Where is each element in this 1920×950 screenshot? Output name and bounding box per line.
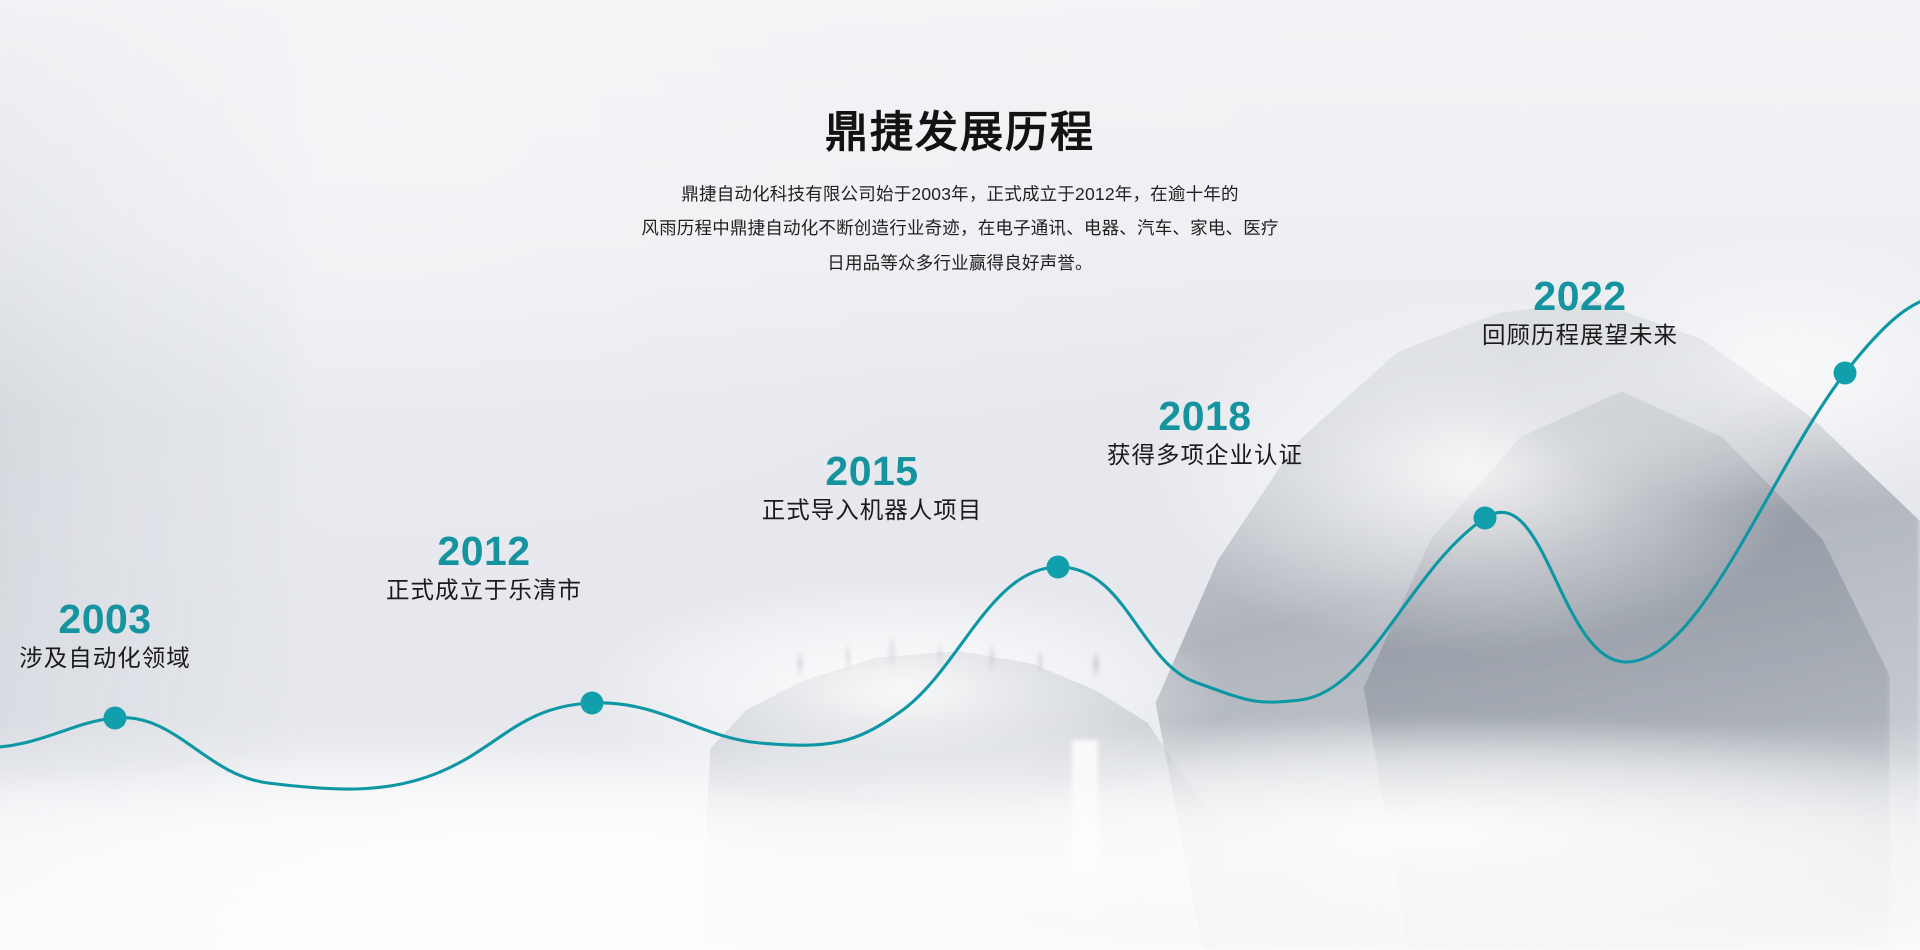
- milestone-2003[interactable]: 2003 涉及自动化领域: [19, 598, 191, 672]
- milestone-label-2018: 获得多项企业认证: [1107, 441, 1303, 469]
- timeline-node-2018[interactable]: [1474, 507, 1497, 530]
- page-description: 鼎捷自动化科技有限公司始于2003年，正式成立于2012年，在逾十年的 风雨历程…: [550, 157, 1370, 279]
- page-description-line-1: 鼎捷自动化科技有限公司始于2003年，正式成立于2012年，在逾十年的: [550, 177, 1370, 211]
- milestone-year-2003: 2003: [19, 598, 191, 641]
- milestone-year-2012: 2012: [386, 530, 582, 573]
- milestone-label-2015: 正式导入机器人项目: [762, 496, 983, 524]
- timeline-node-2003[interactable]: [104, 707, 127, 730]
- milestone-year-2015: 2015: [762, 450, 983, 493]
- page-description-line-2: 风雨历程中鼎捷自动化不断创造行业奇迹，在电子通讯、电器、汽车、家电、医疗: [550, 211, 1370, 245]
- page-header: 鼎捷发展历程 鼎捷自动化科技有限公司始于2003年，正式成立于2012年，在逾十…: [0, 0, 1920, 280]
- timeline-node-2012[interactable]: [581, 692, 604, 715]
- milestone-label-2022: 回顾历程展望未来: [1482, 321, 1678, 349]
- timeline-page: 鼎捷发展历程 鼎捷自动化科技有限公司始于2003年，正式成立于2012年，在逾十…: [0, 0, 1920, 950]
- milestone-2018[interactable]: 2018 获得多项企业认证: [1107, 395, 1303, 469]
- milestone-2022[interactable]: 2022 回顾历程展望未来: [1482, 275, 1678, 349]
- milestone-year-2022: 2022: [1482, 275, 1678, 318]
- timeline-node-2022[interactable]: [1834, 362, 1857, 385]
- page-description-line-3: 日用品等众多行业赢得良好声誉。: [550, 246, 1370, 280]
- milestone-label-2012: 正式成立于乐清市: [386, 576, 582, 604]
- milestone-2015[interactable]: 2015 正式导入机器人项目: [762, 450, 983, 524]
- page-title: 鼎捷发展历程: [0, 0, 1920, 157]
- milestone-2012[interactable]: 2012 正式成立于乐清市: [386, 530, 582, 604]
- milestone-year-2018: 2018: [1107, 395, 1303, 438]
- milestone-label-2003: 涉及自动化领域: [19, 644, 191, 672]
- timeline-node-2015[interactable]: [1047, 556, 1070, 579]
- timeline-curve-path: [0, 295, 1920, 789]
